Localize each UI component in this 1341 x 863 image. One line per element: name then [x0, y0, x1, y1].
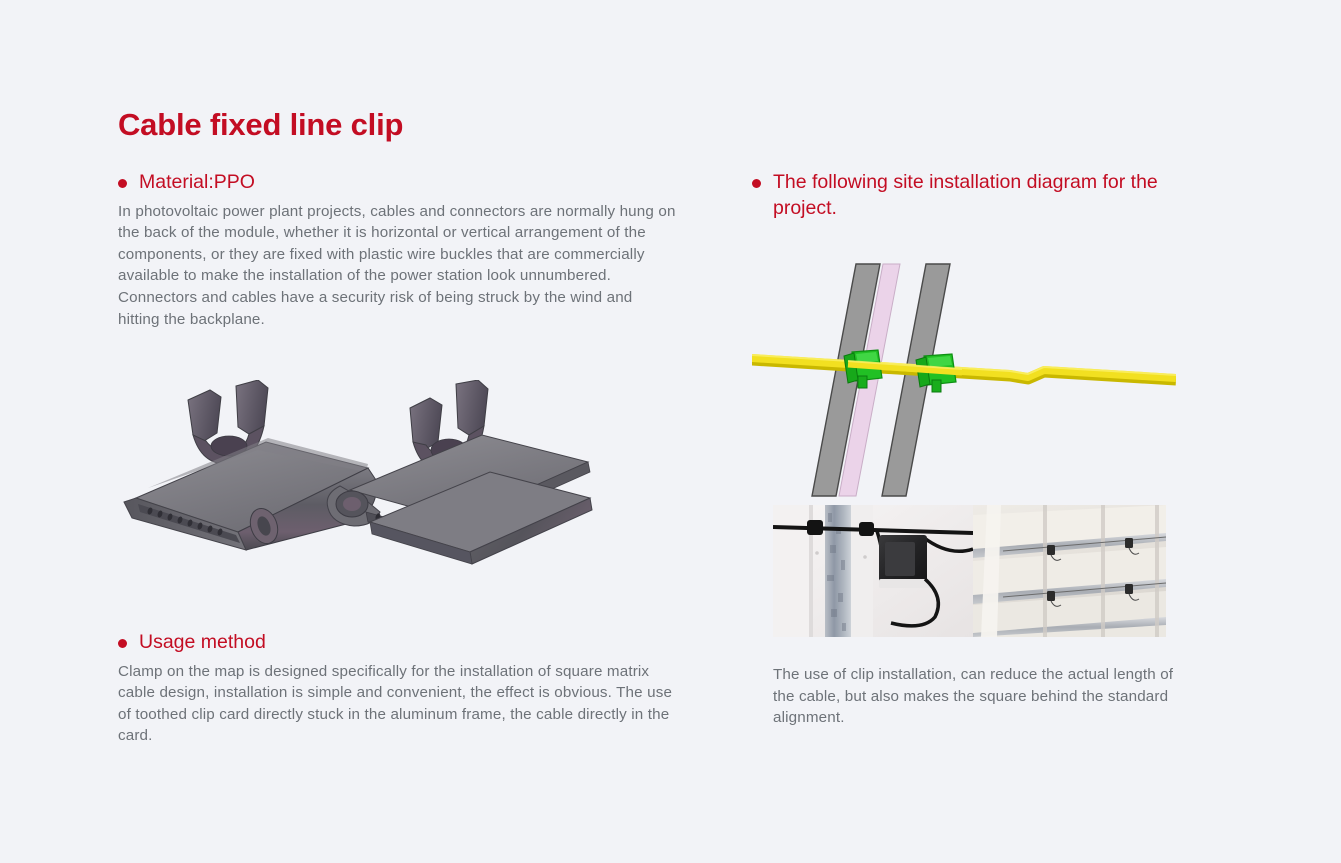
material-heading-label: Material:PPO: [139, 171, 255, 193]
usage-heading-label: Usage method: [139, 631, 266, 653]
usage-method-block: Usage method Clamp on the map is designe…: [118, 630, 678, 747]
product-render-image: [118, 380, 678, 590]
bullet-dot-icon: [118, 179, 127, 188]
diagram-caption-block: The use of clip installation, can reduce…: [773, 664, 1177, 729]
left-column: Material:PPO In photovoltaic power plant…: [118, 170, 678, 330]
usage-heading: Usage method: [118, 630, 678, 656]
diagram-heading-label: The following site installation diagram …: [773, 171, 1158, 219]
usage-paragraph: Clamp on the map is designed specificall…: [118, 661, 678, 747]
photo-junction-box: [773, 505, 973, 637]
diagram-caption: The use of clip installation, can reduce…: [773, 664, 1177, 729]
material-heading: Material:PPO: [118, 170, 678, 196]
bullet-dot-icon: [118, 639, 127, 648]
installation-photo-strip: [773, 505, 1166, 637]
page-title: Cable fixed line clip: [118, 108, 403, 142]
photo-array-rails: [973, 505, 1166, 637]
slide-page: Cable fixed line clip Material:PPO In ph…: [0, 0, 1341, 863]
material-paragraph: In photovoltaic power plant projects, ca…: [118, 201, 678, 330]
clip-render-left: [124, 380, 377, 550]
right-column: The following site installation diagram …: [752, 170, 1176, 226]
installation-diagram-image: [752, 248, 1176, 500]
bullet-dot-icon: [752, 179, 761, 188]
diagram-heading: The following site installation diagram …: [752, 170, 1176, 221]
